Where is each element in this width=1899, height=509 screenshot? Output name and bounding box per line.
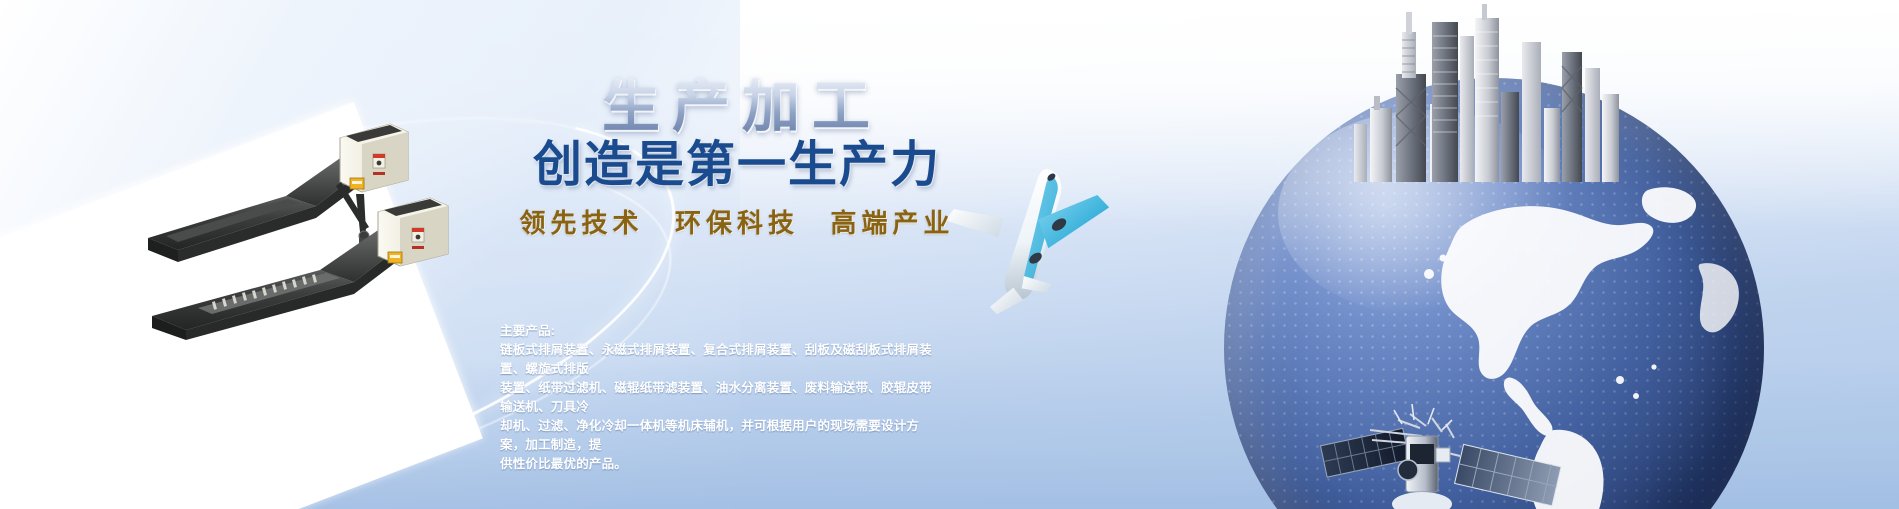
tagline-item-1: 领先技术 [519, 209, 643, 238]
tagline-item-3: 高端产业 [831, 209, 955, 238]
chip-conveyor-machine-icon [140, 120, 540, 340]
product-list-title: 主要产品: [500, 322, 932, 341]
tagline-item-2: 环保科技 [675, 209, 799, 238]
city-skyline-icon [1336, 0, 1636, 186]
product-list-text: 主要产品: 链板式排屑装置、永磁式排屑装置、复合式排屑装置、刮板及磁刮板式排屑装… [500, 322, 932, 474]
product-list-line: 供性价比最优的产品。 [500, 455, 932, 474]
banner-subheadline: 创造是第一生产力 [497, 140, 977, 191]
banner-text-block: 生产加工 创造是第一生产力 领先技术 环保科技 高端产业 [497, 78, 977, 240]
banner-tagline: 领先技术 环保科技 高端产业 [497, 203, 977, 240]
promotional-banner: 生产加工 创造是第一生产力 领先技术 环保科技 高端产业 主要产品: 链板式排屑… [0, 0, 1899, 509]
satellite-icon [1310, 332, 1580, 509]
product-list-line: 装置、纸带过滤机、磁辊纸带滤装置、油水分离装置、废料输送带、胶辊皮带输送机、刀具… [500, 379, 932, 417]
banner-headline: 生产加工 [497, 78, 977, 136]
product-list-line: 却机、过滤、净化冷却一体机等机床辅机，并可根据用户的现场需要设计方案，加工制造，… [500, 417, 932, 455]
product-list-line: 链板式排屑装置、永磁式排屑装置、复合式排屑装置、刮板及磁刮板式排屑装置、螺旋式排… [500, 341, 932, 379]
